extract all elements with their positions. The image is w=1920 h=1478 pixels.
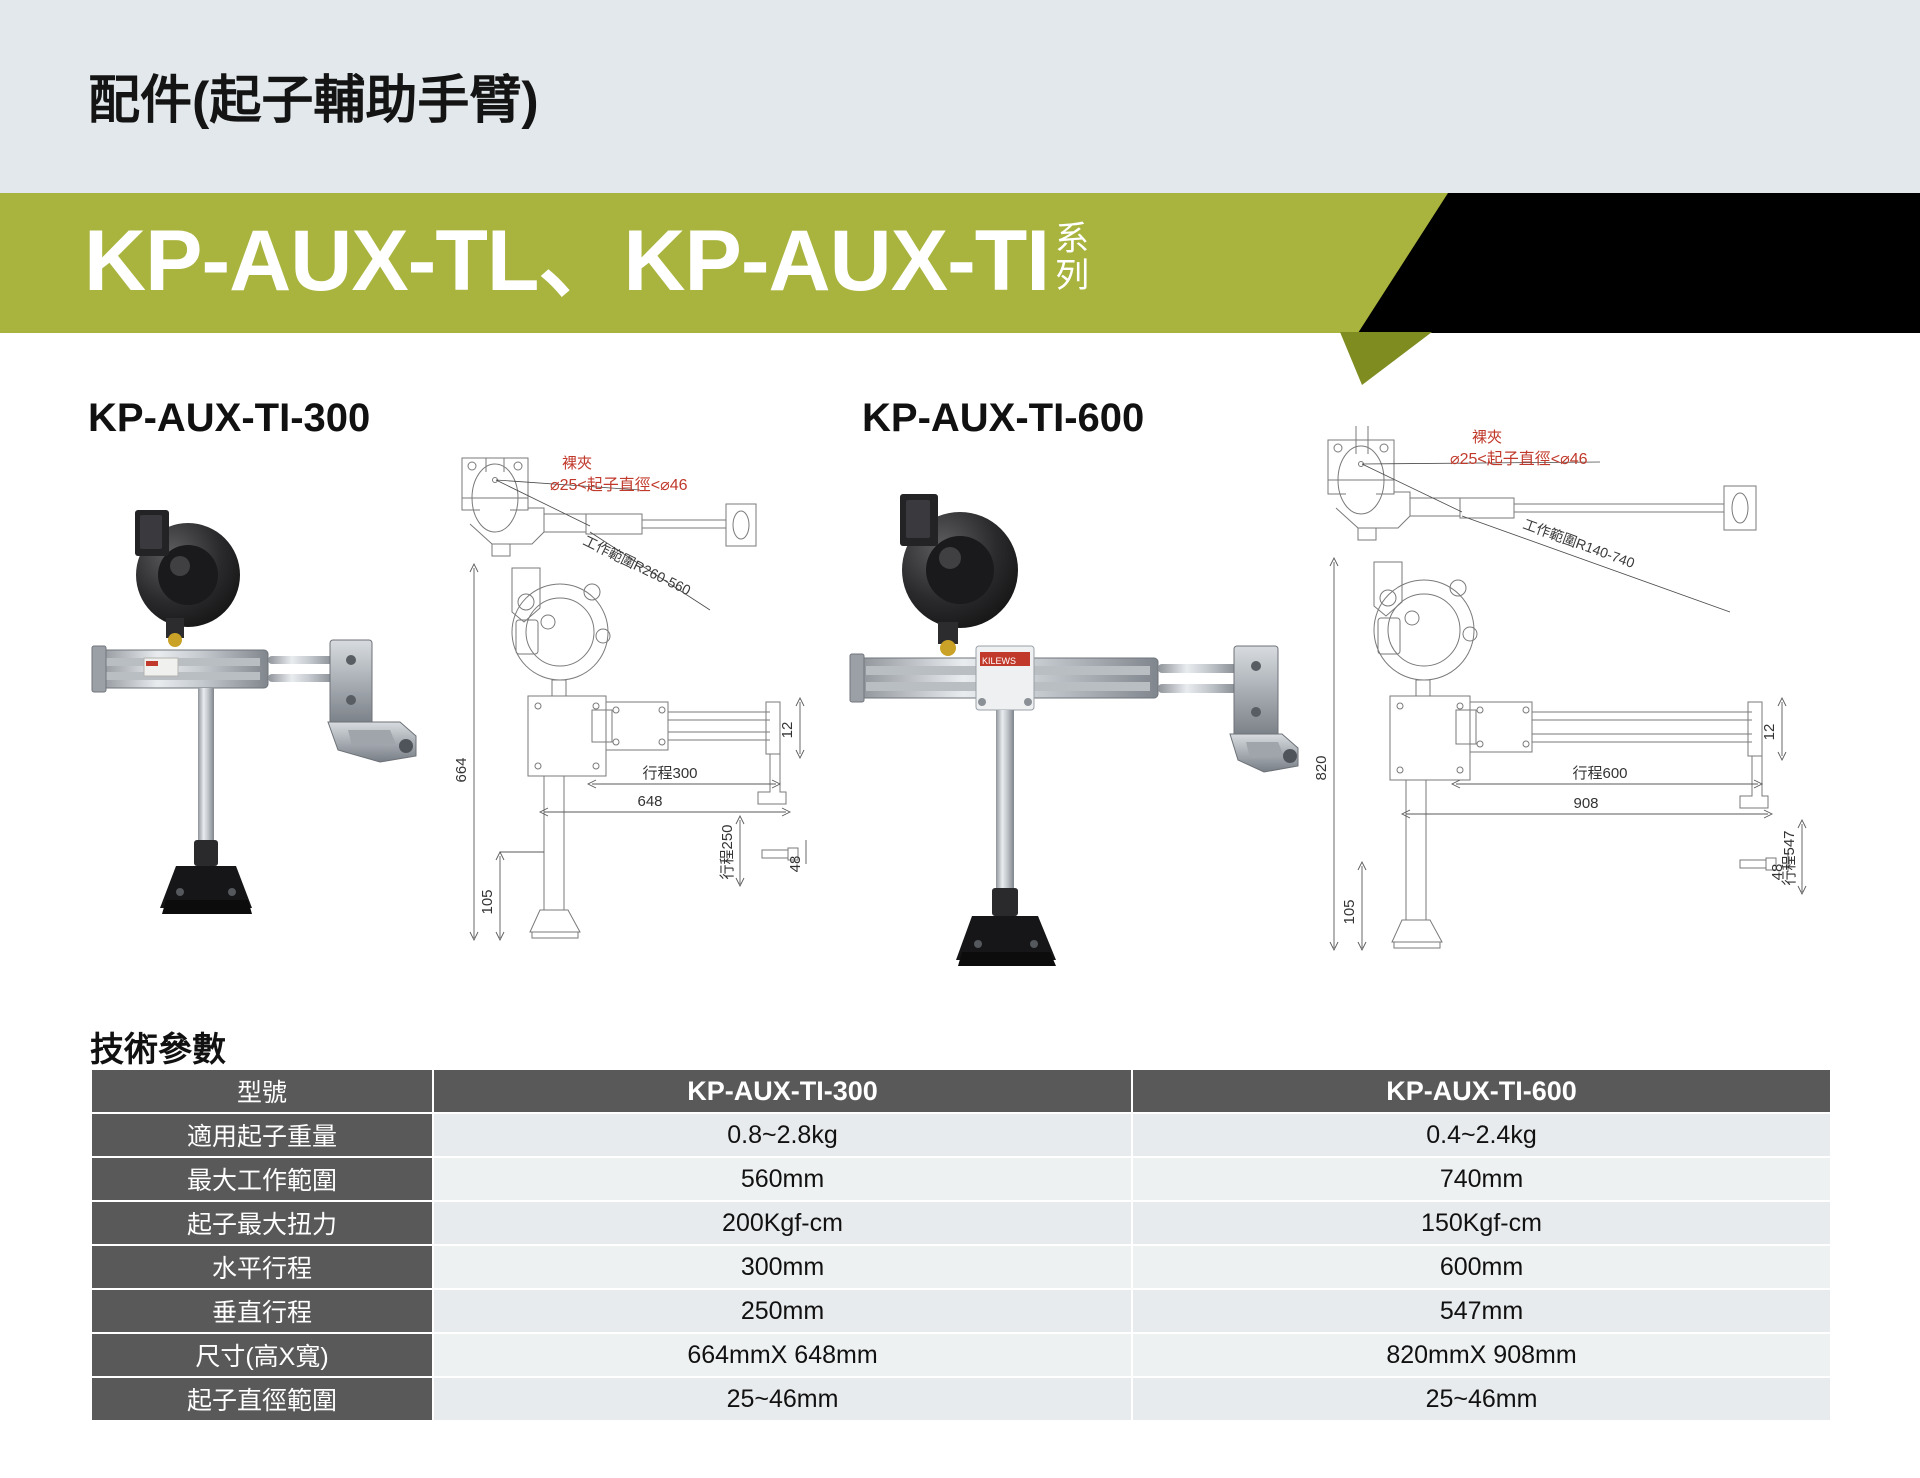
dim-base-600: 105 (1341, 899, 1358, 924)
table-row: 起子最大扭力200Kgf-cm150Kgf-cm (92, 1202, 1830, 1244)
row-label-cell: 起子最大扭力 (92, 1202, 432, 1244)
product-spec-page: 配件(起子輔助手臂) KP-AUX-TL、KP-AUX-TI 系 列 KP-AU… (0, 0, 1920, 1478)
header-label-cell: 型號 (92, 1070, 432, 1112)
row-value-600-cell: 547mm (1133, 1290, 1830, 1332)
dim-width-300: 648 (637, 793, 662, 810)
dim-small-top-300: 12 (779, 722, 796, 739)
technical-drawing-300: 裸夾 ⌀25<起子直徑<⌀46 工作範圍R260-560 (440, 440, 870, 1000)
row-value-300-cell: 300mm (434, 1246, 1131, 1288)
row-label-cell: 垂直行程 (92, 1290, 432, 1332)
dim-stroke-h-300: 行程300 (642, 765, 697, 782)
dim-small-bottom-600: 48 (1769, 864, 1786, 881)
note-bare-clamp-600: 裸夾 (1472, 429, 1502, 446)
dim-small-bottom-300: 48 (787, 856, 804, 873)
row-value-600-cell: 820mmX 908mm (1133, 1334, 1830, 1376)
row-label-cell: 水平行程 (92, 1246, 432, 1288)
row-label-cell: 尺寸(高X寬) (92, 1334, 432, 1376)
header-col2-cell: KP-AUX-TI-600 (1133, 1070, 1830, 1112)
row-value-300-cell: 664mmX 648mm (434, 1334, 1131, 1376)
product-title-300: KP-AUX-TI-300 (88, 396, 370, 441)
table-row: 垂直行程250mm547mm (92, 1290, 1830, 1332)
note-diameter-600: ⌀25<起子直徑<⌀46 (1450, 450, 1588, 468)
note-diameter-300: ⌀25<起子直徑<⌀46 (550, 476, 688, 494)
product-photo-600-graphic: KILEWS (830, 480, 1310, 1000)
row-value-600-cell: 25~46mm (1133, 1378, 1830, 1420)
table-row: 起子直徑範圍25~46mm25~46mm (92, 1378, 1830, 1420)
row-value-300-cell: 0.8~2.8kg (434, 1114, 1131, 1156)
banner-text-group: KP-AUX-TL、KP-AUX-TI 系 列 (84, 201, 1089, 321)
row-value-600-cell: 0.4~2.4kg (1133, 1114, 1830, 1156)
dim-width-600: 908 (1573, 795, 1598, 812)
row-label-cell: 起子直徑範圍 (92, 1378, 432, 1420)
row-value-300-cell: 250mm (434, 1290, 1131, 1332)
row-value-300-cell: 560mm (434, 1158, 1131, 1200)
header-col1-cell: KP-AUX-TI-300 (434, 1070, 1131, 1112)
spec-table-body: 適用起子重量0.8~2.8kg0.4~2.4kg最大工作範圍560mm740mm… (92, 1114, 1830, 1420)
label-working-range-300: 工作範圍R260-560 (581, 532, 694, 598)
banner-arrow-tail (1340, 332, 1460, 385)
spec-table-head: 型號 KP-AUX-TI-300 KP-AUX-TI-600 (92, 1070, 1830, 1112)
row-value-300-cell: 200Kgf-cm (434, 1202, 1131, 1244)
dim-height-600: 820 (1313, 755, 1330, 780)
dim-stroke-h-600: 行程600 (1572, 765, 1627, 782)
product-photo-300 (80, 500, 440, 980)
product-photo-600: KILEWS (830, 480, 1310, 1000)
banner-series-label: 系 列 (1055, 221, 1089, 295)
row-label-cell: 最大工作範圍 (92, 1158, 432, 1200)
table-row: 尺寸(高X寬)664mmX 648mm820mmX 908mm (92, 1334, 1830, 1376)
table-header-row: 型號 KP-AUX-TI-300 KP-AUX-TI-600 (92, 1070, 1830, 1112)
page-title: 配件(起子輔助手臂) (88, 58, 539, 133)
table-row: 最大工作範圍560mm740mm (92, 1158, 1830, 1200)
row-label-cell: 適用起子重量 (92, 1114, 432, 1156)
series-char-bottom: 列 (1055, 258, 1089, 295)
dim-base-300: 105 (479, 889, 496, 914)
svg-text:KILEWS: KILEWS (982, 656, 1016, 666)
spec-table-heading: 技術參數 (90, 1022, 226, 1071)
dim-stroke-v-300: 行程250 (719, 824, 736, 879)
dim-height-300: 664 (453, 757, 470, 782)
banner-model-label: KP-AUX-TL、KP-AUX-TI (84, 201, 1049, 321)
table-row: 水平行程300mm600mm (92, 1246, 1830, 1288)
row-value-600-cell: 600mm (1133, 1246, 1830, 1288)
product-photo-300-graphic (80, 500, 440, 980)
dim-small-top-600: 12 (1761, 724, 1778, 741)
technical-drawing-600-graphic: 裸夾 ⌀25<起子直徑<⌀46 工作範圍R140-740 (1300, 420, 1860, 1020)
spec-table: 型號 KP-AUX-TI-300 KP-AUX-TI-600 適用起子重量0.8… (90, 1068, 1832, 1422)
row-value-600-cell: 740mm (1133, 1158, 1830, 1200)
technical-drawing-600: 裸夾 ⌀25<起子直徑<⌀46 工作範圍R140-740 (1300, 420, 1860, 1020)
technical-drawing-300-graphic: 裸夾 ⌀25<起子直徑<⌀46 工作範圍R260-560 (440, 440, 870, 1000)
row-value-600-cell: 150Kgf-cm (1133, 1202, 1830, 1244)
note-bare-clamp-300: 裸夾 (562, 455, 592, 472)
row-value-300-cell: 25~46mm (434, 1378, 1131, 1420)
table-row: 適用起子重量0.8~2.8kg0.4~2.4kg (92, 1114, 1830, 1156)
series-char-top: 系 (1055, 221, 1089, 258)
product-title-600: KP-AUX-TI-600 (862, 396, 1144, 441)
series-banner: KP-AUX-TL、KP-AUX-TI 系 列 (0, 193, 1920, 368)
